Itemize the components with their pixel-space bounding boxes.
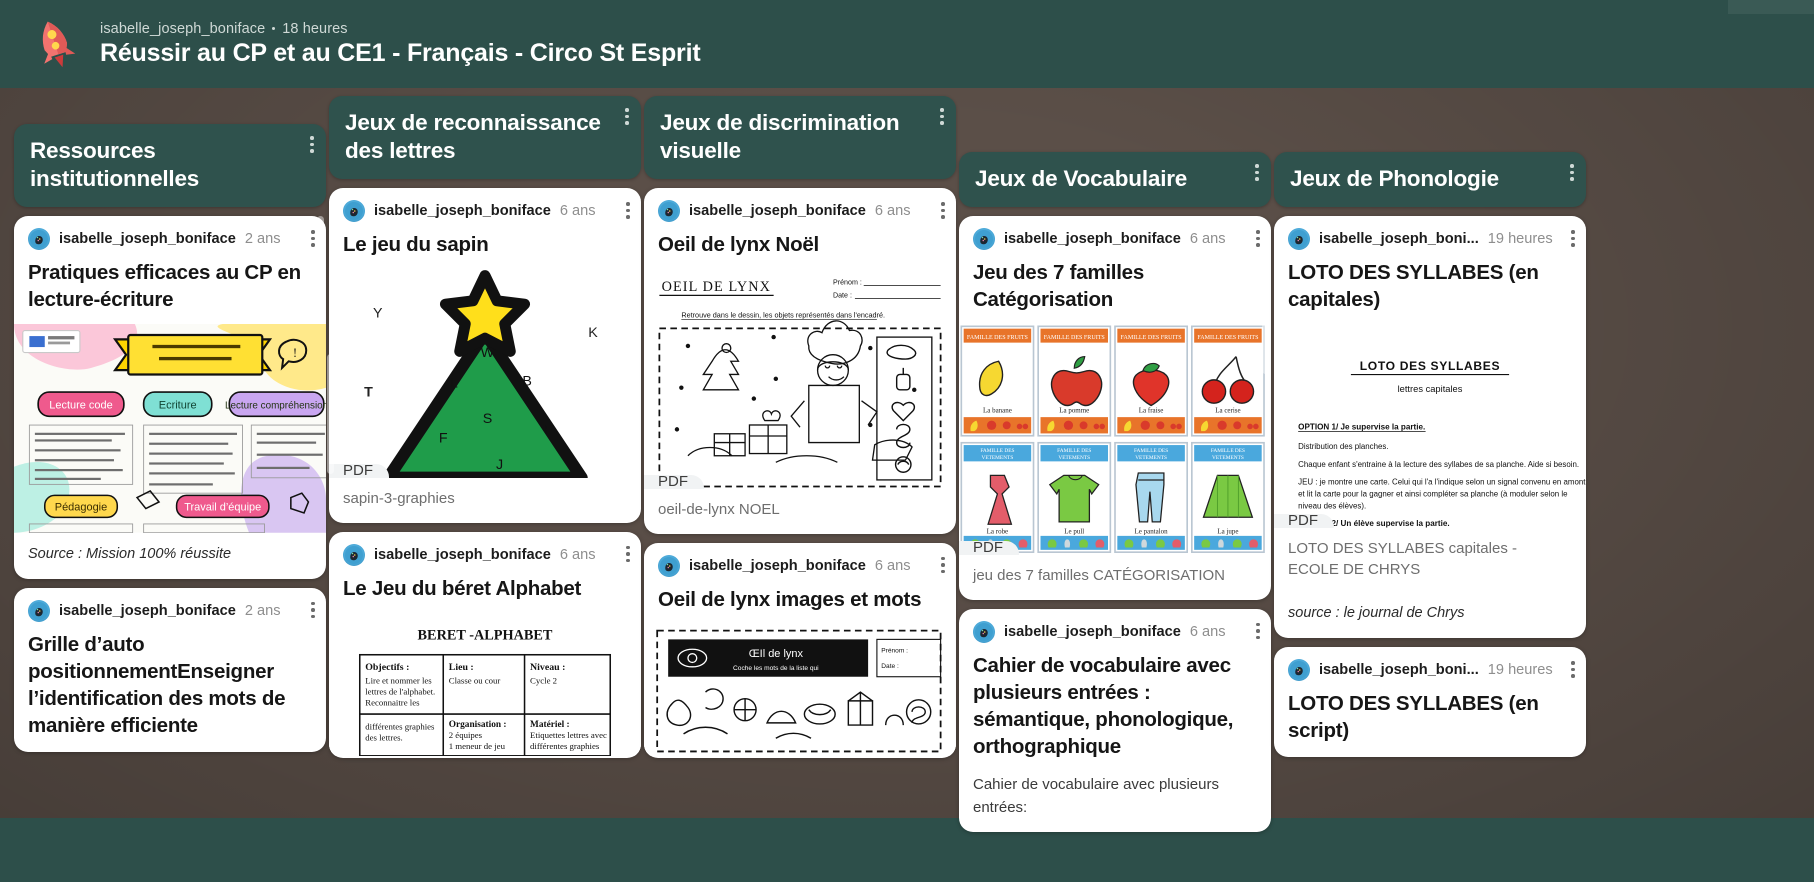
card[interactable]: isabelle_joseph_boniface 2 ans Grille d’…: [14, 588, 326, 752]
svg-text:Objectifs :: Objectifs :: [365, 662, 409, 673]
svg-text:Lieu :: Lieu :: [449, 662, 474, 673]
card-header: isabelle_joseph_boniface 6 ans: [959, 609, 1271, 649]
card-age: 6 ans: [875, 558, 911, 574]
avatar: [28, 228, 50, 250]
column-menu-icon[interactable]: [625, 108, 629, 125]
card-menu-icon[interactable]: [1256, 230, 1260, 247]
svg-text:T: T: [364, 384, 373, 400]
avatar: [28, 600, 50, 622]
svg-text:Lecture compréhension: Lecture compréhension: [225, 401, 326, 412]
svg-text:La robe: La robe: [987, 528, 1008, 536]
card-menu-icon[interactable]: [626, 202, 630, 219]
column-header[interactable]: Jeux de Vocabulaire: [959, 152, 1271, 207]
card[interactable]: isabelle_joseph_boni... 19 heures LOTO D…: [1274, 216, 1586, 638]
avatar: [343, 544, 365, 566]
card-age: 19 heures: [1488, 662, 1553, 678]
svg-text:Lecture code: Lecture code: [49, 400, 112, 412]
card-body-text: Cahier de vocabulaire avec plusieurs ent…: [959, 771, 1271, 830]
svg-text:BERET -ALPHABET: BERET -ALPHABET: [418, 627, 553, 643]
avatar: [1288, 228, 1310, 250]
svg-text:FAMILLE DES: FAMILLE DES: [1211, 448, 1245, 454]
card-media-poster-pratiques-efficaces[interactable]: ! Lecture code Ecriture Lecture compréhe…: [14, 324, 326, 533]
card-source: source : le journal de Chrys: [1274, 592, 1586, 636]
svg-text:Distribution des planches.: Distribution des planches.: [1298, 442, 1388, 451]
card-header: isabelle_joseph_boniface 2 ans: [14, 588, 326, 628]
card-header: isabelle_joseph_boniface 6 ans: [329, 532, 641, 572]
svg-text:Organisation :: Organisation :: [449, 720, 507, 730]
svg-text:Prénom :: Prénom :: [881, 647, 908, 654]
card[interactable]: isabelle_joseph_boniface 6 ans Cahier de…: [959, 609, 1271, 832]
svg-text:FAMILLE DES FRUITS: FAMILLE DES FRUITS: [1044, 335, 1105, 341]
header-right-chip: [1728, 0, 1814, 14]
svg-text:FAMILLE DES: FAMILLE DES: [1134, 448, 1168, 454]
svg-text:2 équipes: 2 équipes: [449, 730, 483, 740]
svg-text:J: J: [496, 457, 503, 473]
svg-text:La cerise: La cerise: [1215, 406, 1240, 414]
card-author: isabelle_joseph_boniface: [689, 203, 866, 219]
svg-text:Le pull: Le pull: [1064, 528, 1084, 536]
svg-text:lettres de l'alphabet.: lettres de l'alphabet.: [365, 686, 435, 696]
card-author: isabelle_joseph_boniface: [374, 203, 551, 219]
svg-text:FAMILLE DES FRUITS: FAMILLE DES FRUITS: [1121, 335, 1182, 341]
svg-text:différentes graphies: différentes graphies: [365, 721, 435, 731]
card-author: isabelle_joseph_boniface: [1004, 624, 1181, 640]
card-menu-icon[interactable]: [1571, 661, 1575, 678]
rocket-icon: [26, 15, 84, 73]
column-header[interactable]: Jeux de Phonologie: [1274, 152, 1586, 207]
card-header: isabelle_joseph_boni... 19 heures: [1274, 216, 1586, 256]
card-menu-icon[interactable]: [941, 202, 945, 219]
svg-text:VETEMENTS: VETEMENTS: [1212, 455, 1244, 461]
svg-text:L: L: [450, 376, 458, 392]
svg-text:FAMILLE DES: FAMILLE DES: [1057, 448, 1091, 454]
svg-text:W: W: [481, 345, 495, 361]
svg-text:!: !: [293, 346, 297, 360]
board-header: isabelle_joseph_boniface 18 heures Réuss…: [0, 0, 1814, 88]
card-header: isabelle_joseph_boniface 6 ans: [644, 188, 956, 228]
column-jeux-reconnaissance-lettres: Jeux de reconnaissance des lettres isabe…: [329, 96, 641, 826]
column-title: Jeux de discrimination visuelle: [660, 110, 899, 163]
card-title: Pratiques efficaces au CP en lecture-écr…: [14, 256, 326, 324]
card-menu-icon[interactable]: [311, 230, 315, 247]
card-header: isabelle_joseph_boni... 19 heures: [1274, 647, 1586, 687]
card-menu-icon[interactable]: [941, 557, 945, 574]
card-title: Oeil de lynx images et mots: [644, 583, 956, 624]
card-title: Jeu des 7 familles Catégorisation: [959, 256, 1271, 324]
card-age: 19 heures: [1488, 231, 1553, 247]
avatar: [658, 200, 680, 222]
card-title: Oeil de lynx Noël: [644, 228, 956, 269]
board-columns: Ressources institutionnelles isabelle_jo…: [0, 88, 1814, 818]
card[interactable]: isabelle_joseph_boniface 6 ans Oeil de l…: [644, 543, 956, 758]
pdf-badge: PDF: [959, 541, 1019, 555]
avatar: [343, 200, 365, 222]
card-age: 2 ans: [245, 603, 281, 619]
card-age: 6 ans: [1190, 231, 1226, 247]
card-title: Cahier de vocabulaire avec plusieurs ent…: [959, 649, 1271, 771]
card-header: isabelle_joseph_boniface 6 ans: [959, 216, 1271, 256]
column-title: Jeux de Phonologie: [1290, 166, 1499, 191]
svg-text:Matériel :: Matériel :: [530, 720, 570, 730]
card-header: isabelle_joseph_boniface 2 ans: [14, 216, 326, 256]
card-media-loto-des-syllabes-doc[interactable]: LOTO DES SYLLABES lettres capitales OPTI…: [1274, 324, 1586, 528]
svg-text:Niveau :: Niveau :: [530, 662, 565, 673]
card[interactable]: isabelle_joseph_boniface 6 ans Oeil de l…: [644, 188, 956, 534]
card-age: 6 ans: [560, 203, 596, 219]
card-media-jeu-7-familles[interactable]: FAMILLE DES FRUITS La banane: [959, 324, 1271, 555]
svg-text:S: S: [483, 411, 493, 427]
svg-text:La fraise: La fraise: [1139, 406, 1164, 414]
card[interactable]: isabelle_joseph_boniface 6 ans Le jeu du…: [329, 188, 641, 523]
svg-text:et lit la carte pour la gagner: et lit la carte pour la gagner et ainsi …: [1298, 489, 1568, 498]
avatar: [973, 621, 995, 643]
column-header[interactable]: Ressources institutionnelles: [14, 124, 326, 207]
svg-text:Classe ou cour: Classe ou cour: [449, 675, 501, 685]
column-menu-icon[interactable]: [940, 108, 944, 125]
column-menu-icon[interactable]: [1255, 164, 1259, 181]
svg-text:Etiquettes lettres avec: Etiquettes lettres avec: [530, 730, 607, 740]
column-jeux-vocabulaire: Jeux de Vocabulaire isabelle_joseph_boni…: [959, 152, 1271, 882]
svg-text:Ecriture: Ecriture: [159, 400, 197, 412]
card-title: Le jeu du sapin: [329, 228, 641, 269]
column-title: Jeux de Vocabulaire: [975, 166, 1187, 191]
svg-text:B: B: [522, 373, 532, 389]
column-scrollbar[interactable]: [327, 354, 334, 474]
svg-text:P: P: [544, 422, 554, 438]
card-author: isabelle_joseph_boniface: [1004, 231, 1181, 247]
card-media-oeil-de-lynx-images-mots[interactable]: ŒIl de lynx Coche les mots de la liste q…: [644, 624, 956, 756]
card-title: LOTO DES SYLLABES (en capitales): [1274, 256, 1586, 324]
column-scrollbar[interactable]: [1262, 274, 1269, 374]
card-header: isabelle_joseph_boniface 6 ans: [644, 543, 956, 583]
svg-text:des lettres.: des lettres.: [365, 732, 403, 742]
svg-text:1 meneur de jeu: 1 meneur de jeu: [449, 741, 506, 751]
card-author: isabelle_joseph_boniface: [59, 603, 236, 619]
header-author: isabelle_joseph_boniface: [100, 21, 265, 37]
svg-text:VETEMENTS: VETEMENTS: [982, 455, 1014, 461]
column-title: Ressources institutionnelles: [30, 138, 199, 191]
pdf-badge: PDF: [329, 464, 389, 478]
svg-text:VETEMENTS: VETEMENTS: [1135, 455, 1167, 461]
card-media-sapin-lettres[interactable]: Y K T W L B S P F J PDF: [329, 269, 641, 478]
svg-text:K: K: [588, 325, 598, 341]
card-caption: LOTO DES SYLLABES capitales - ECOLE DE C…: [1274, 528, 1586, 592]
svg-text:FAMILLE DES: FAMILLE DES: [980, 448, 1014, 454]
svg-text:FAMILLE DES FRUITS: FAMILLE DES FRUITS: [1197, 335, 1258, 341]
svg-text:Coche les mots de la liste qui: Coche les mots de la liste qui: [733, 665, 819, 672]
svg-text:Chaque enfant s'entraine à la: Chaque enfant s'entraine à la lecture de…: [1298, 460, 1579, 469]
svg-text:Date :: Date :: [833, 292, 852, 300]
card-media-beret-alphabet-table[interactable]: BERET -ALPHABET Objectifs : Lieu : Nivea…: [329, 613, 641, 756]
card-menu-icon[interactable]: [1256, 623, 1260, 640]
svg-text:lettres capitales: lettres capitales: [1398, 384, 1463, 394]
column-scrollbar[interactable]: [947, 274, 954, 404]
svg-text:La banane: La banane: [983, 406, 1012, 414]
svg-text:OPTION 1/ Je supervise la part: OPTION 1/ Je supervise la partie.: [1298, 422, 1425, 431]
column-menu-icon[interactable]: [1570, 164, 1574, 181]
card-caption: sapin-3-graphies: [329, 478, 641, 521]
svg-text:niveau des élèves).: niveau des élèves).: [1298, 502, 1366, 511]
card-media-oeil-de-lynx-noel[interactable]: OEIL DE LYNX Prénom : Date : Retrouve da…: [644, 269, 956, 489]
card-age: 6 ans: [1190, 624, 1226, 640]
column-header[interactable]: Jeux de discrimination visuelle: [644, 96, 956, 179]
card-title: Grille d’auto positionnementEnseigner l’…: [14, 628, 326, 750]
svg-text:F: F: [439, 431, 448, 447]
pdf-badge: PDF: [644, 475, 704, 489]
column-header[interactable]: Jeux de reconnaissance des lettres: [329, 96, 641, 179]
svg-text:Reconnaitre les: Reconnaitre les: [365, 697, 420, 707]
column-menu-icon[interactable]: [310, 136, 314, 153]
column-jeux-phonologie: Jeux de Phonologie isabelle_joseph_boni.…: [1274, 152, 1586, 882]
card-title: Le Jeu du béret Alphabet: [329, 572, 641, 613]
pdf-badge: PDF: [1274, 514, 1334, 528]
svg-text:VETEMENTS: VETEMENTS: [1058, 455, 1090, 461]
column-ressources-institutionnelles: Ressources institutionnelles isabelle_jo…: [14, 124, 326, 854]
card[interactable]: isabelle_joseph_boniface 2 ans Pratiques…: [14, 216, 326, 579]
card[interactable]: isabelle_joseph_boni... 19 heures LOTO D…: [1274, 647, 1586, 757]
card-source: Source : Mission 100% réussite: [14, 533, 326, 577]
card-author: isabelle_joseph_boniface: [374, 547, 551, 563]
svg-text:FAMILLE DES FRUITS: FAMILLE DES FRUITS: [967, 335, 1028, 341]
column-title: Jeux de reconnaissance des lettres: [345, 110, 601, 163]
card-author: isabelle_joseph_boniface: [59, 231, 236, 247]
card-age: 6 ans: [875, 203, 911, 219]
svg-text:différentes graphies: différentes graphies: [530, 741, 600, 751]
svg-text:Lire et nommer les: Lire et nommer les: [365, 675, 432, 685]
avatar: [1288, 659, 1310, 681]
svg-text:Date :: Date :: [881, 663, 899, 670]
card-menu-icon[interactable]: [626, 546, 630, 563]
card-caption: oeil-de-lynx NOEL: [644, 489, 956, 532]
card-author: isabelle_joseph_boniface: [689, 558, 866, 574]
svg-text:Le pantalon: Le pantalon: [1135, 528, 1169, 536]
header-separator-dot: [272, 27, 275, 30]
board-title: Réussir au CP et au CE1 - Français - Cir…: [100, 39, 700, 68]
card-caption: jeu des 7 familles CATÉGORISATION: [959, 555, 1271, 598]
svg-text:Retrouve dans le dessin, les o: Retrouve dans le dessin, les objets repr…: [681, 310, 885, 319]
card-author: isabelle_joseph_boni...: [1319, 231, 1479, 247]
card[interactable]: isabelle_joseph_boniface 6 ans Jeu des 7…: [959, 216, 1271, 600]
svg-text:La pomme: La pomme: [1059, 406, 1089, 414]
svg-text:Cycle 2: Cycle 2: [530, 675, 557, 685]
header-age: 18 heures: [282, 21, 347, 37]
header-meta: isabelle_joseph_boniface 18 heures: [100, 21, 700, 37]
card-menu-icon[interactable]: [1571, 230, 1575, 247]
svg-text:Travail d’équipe: Travail d’équipe: [184, 502, 261, 514]
svg-text:Pédagogie: Pédagogie: [55, 502, 107, 514]
card[interactable]: isabelle_joseph_boniface 6 ans Le Jeu du…: [329, 532, 641, 758]
avatar: [973, 228, 995, 250]
column-scrollbar[interactable]: [317, 216, 324, 322]
card-age: 6 ans: [560, 547, 596, 563]
avatar: [658, 555, 680, 577]
svg-text:LOTO DES SYLLABES: LOTO DES SYLLABES: [1360, 359, 1501, 373]
card-header: isabelle_joseph_boniface 6 ans: [329, 188, 641, 228]
svg-text:Y: Y: [373, 305, 383, 321]
card-age: 2 ans: [245, 231, 281, 247]
svg-text:OEIL DE LYNX: OEIL DE LYNX: [662, 279, 771, 295]
svg-text:La jupe: La jupe: [1217, 528, 1238, 536]
svg-text:JEU : je montre une carte. Cel: JEU : je montre une carte. Celui qui l'a…: [1298, 477, 1586, 486]
card-menu-icon[interactable]: [311, 602, 315, 619]
card-title: LOTO DES SYLLABES (en script): [1274, 687, 1586, 755]
card-author: isabelle_joseph_boni...: [1319, 662, 1479, 678]
svg-text:Prénom :: Prénom :: [833, 278, 862, 286]
column-jeux-discrimination-visuelle: Jeux de discrimination visuelle isabelle…: [644, 96, 956, 826]
svg-text:ŒIl de lynx: ŒIl de lynx: [749, 648, 804, 660]
